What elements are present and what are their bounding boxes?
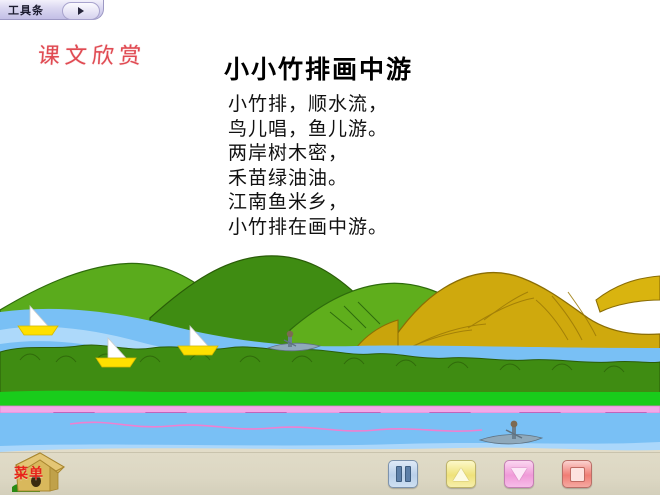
bottom-toolbar: 菜单 — [0, 452, 660, 495]
poem-line: 两岸树木密， — [228, 141, 388, 166]
next-page-button[interactable] — [504, 460, 534, 488]
stop-square-icon — [570, 467, 585, 482]
menu-label: 菜单 — [14, 463, 44, 483]
menu-button[interactable]: 菜单 — [6, 447, 74, 493]
poem-line: 禾苗绿油油。 — [228, 166, 388, 191]
triangle-down-icon — [511, 468, 527, 481]
stop-button[interactable] — [562, 460, 592, 488]
toolbar-tab[interactable]: 工具条 — [0, 0, 104, 20]
poem-body: 小竹排，顺水流， 鸟儿唱，鱼儿游。 两岸树木密， 禾苗绿油油。 江南鱼米乡， 小… — [228, 92, 388, 239]
poem-line: 江南鱼米乡， — [228, 190, 388, 215]
toolbar-label: 工具条 — [8, 2, 44, 18]
triangle-up-icon — [453, 468, 469, 481]
previous-page-button[interactable] — [446, 460, 476, 488]
poem-title: 小小竹排画中游 — [224, 50, 413, 86]
pause-icon — [396, 466, 411, 482]
poem-line: 小竹排在画中游。 — [228, 215, 388, 240]
lesson-heading: 课文欣赏 — [37, 38, 147, 70]
lesson-player-window: 工具条 课文欣赏 小小竹排画中游 小竹排，顺水流， 鸟儿唱，鱼儿游。 两岸树木密… — [0, 0, 660, 495]
toolbar-expand-button[interactable] — [62, 2, 100, 20]
pause-button[interactable] — [388, 460, 418, 488]
poem-line: 鸟儿唱，鱼儿游。 — [228, 117, 388, 142]
poem-line: 小竹排，顺水流， — [228, 92, 388, 117]
triangle-right-icon — [78, 7, 84, 15]
